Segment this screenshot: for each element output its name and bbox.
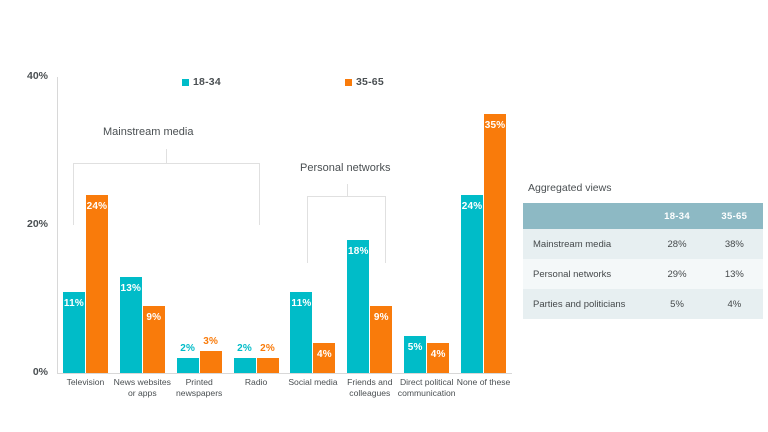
bar-value-label: 2% — [234, 343, 256, 354]
bar-18-34-radio[interactable]: 2% — [234, 358, 256, 373]
table-col-header-18-34: 18-34 — [648, 203, 705, 229]
bar-value-label: 9% — [370, 312, 392, 323]
bar-35-65-television[interactable]: 24% — [86, 195, 108, 373]
bar-35-65-news-websites-or-apps[interactable]: 9% — [143, 306, 165, 373]
bar-group: 2%3% — [177, 77, 222, 373]
bar-value-label: 18% — [347, 246, 369, 257]
bar-group: 2%2% — [234, 77, 279, 373]
x-axis-category-label-line: None of these — [449, 377, 518, 388]
bar-group: 11%4% — [290, 77, 335, 373]
bar-value-label: 11% — [290, 298, 312, 309]
table-col-header-35-65: 35-65 — [706, 203, 763, 229]
bar-35-65-direct-political-communication[interactable]: 4% — [427, 343, 449, 373]
table-cell-name: Parties and politicians — [523, 289, 648, 319]
table-cell-18-34: 28% — [648, 229, 705, 259]
bar-value-label: 2% — [177, 343, 199, 354]
bar-value-label: 24% — [86, 201, 108, 212]
table-header-row: 18-34 35-65 — [523, 203, 763, 229]
bar-value-label: 4% — [313, 349, 335, 360]
bar-value-label: 5% — [404, 342, 426, 353]
bar-group: 11%24% — [63, 77, 108, 373]
bar-35-65-printed-newspapers[interactable]: 3% — [200, 351, 222, 373]
bar-group: 5%4% — [404, 77, 449, 373]
bar-18-34-television[interactable]: 11% — [63, 292, 85, 373]
bar-35-65-social-media[interactable]: 4% — [313, 343, 335, 373]
table-row: Personal networks29%13% — [523, 259, 763, 289]
bar-35-65-radio[interactable]: 2% — [257, 358, 279, 373]
bar-18-34-friends-and-colleagues[interactable]: 18% — [347, 240, 369, 373]
bar-18-34-printed-newspapers[interactable]: 2% — [177, 358, 199, 373]
table-cell-18-34: 5% — [648, 289, 705, 319]
bar-group: 18%9% — [347, 77, 392, 373]
bar-value-label: 9% — [143, 312, 165, 323]
table-row: Parties and politicians5%4% — [523, 289, 763, 319]
bar-group: 13%9% — [120, 77, 165, 373]
table-cell-35-65: 4% — [706, 289, 763, 319]
bar-value-label: 11% — [63, 298, 85, 309]
table-col-header-blank — [523, 203, 648, 229]
bar-value-label: 3% — [200, 336, 222, 347]
bar-18-34-news-websites-or-apps[interactable]: 13% — [120, 277, 142, 373]
y-axis-tick-40: 40% — [0, 70, 48, 82]
y-axis-tick-0: 0% — [0, 366, 48, 378]
bar-35-65-none-of-these[interactable]: 35% — [484, 114, 506, 373]
bar-18-34-direct-political-communication[interactable]: 5% — [404, 336, 426, 373]
plot-area: 11%24%Television13%9%News websitesor app… — [57, 77, 512, 373]
bar-value-label: 35% — [484, 120, 506, 131]
table-title: Aggregated views — [528, 182, 611, 194]
table-cell-name: Personal networks — [523, 259, 648, 289]
x-axis-line — [57, 373, 512, 374]
x-axis-category-label-line: newspapers — [165, 388, 234, 399]
x-axis-category-label-line: communication — [392, 388, 461, 399]
bar-value-label: 4% — [427, 349, 449, 360]
y-axis-tick-20: 20% — [0, 218, 48, 230]
bar-18-34-none-of-these[interactable]: 24% — [461, 195, 483, 373]
bar-value-label: 2% — [257, 343, 279, 354]
bar-35-65-friends-and-colleagues[interactable]: 9% — [370, 306, 392, 373]
bar-group: 24%35% — [461, 77, 506, 373]
aggregated-views-table: 18-34 35-65 Mainstream media28%38%Person… — [523, 203, 763, 319]
bar-18-34-social-media[interactable]: 11% — [290, 292, 312, 373]
table-cell-18-34: 29% — [648, 259, 705, 289]
bar-value-label: 13% — [120, 283, 142, 294]
table-row: Mainstream media28%38% — [523, 229, 763, 259]
bar-value-label: 24% — [461, 201, 483, 212]
x-axis-category-label: None of these — [449, 377, 518, 388]
table-body: Mainstream media28%38%Personal networks2… — [523, 229, 763, 319]
table-cell-name: Mainstream media — [523, 229, 648, 259]
chart-canvas: 18-34 35-65 40% 20% 0% Mainstream media … — [0, 0, 768, 432]
table-cell-35-65: 13% — [706, 259, 763, 289]
table-cell-35-65: 38% — [706, 229, 763, 259]
